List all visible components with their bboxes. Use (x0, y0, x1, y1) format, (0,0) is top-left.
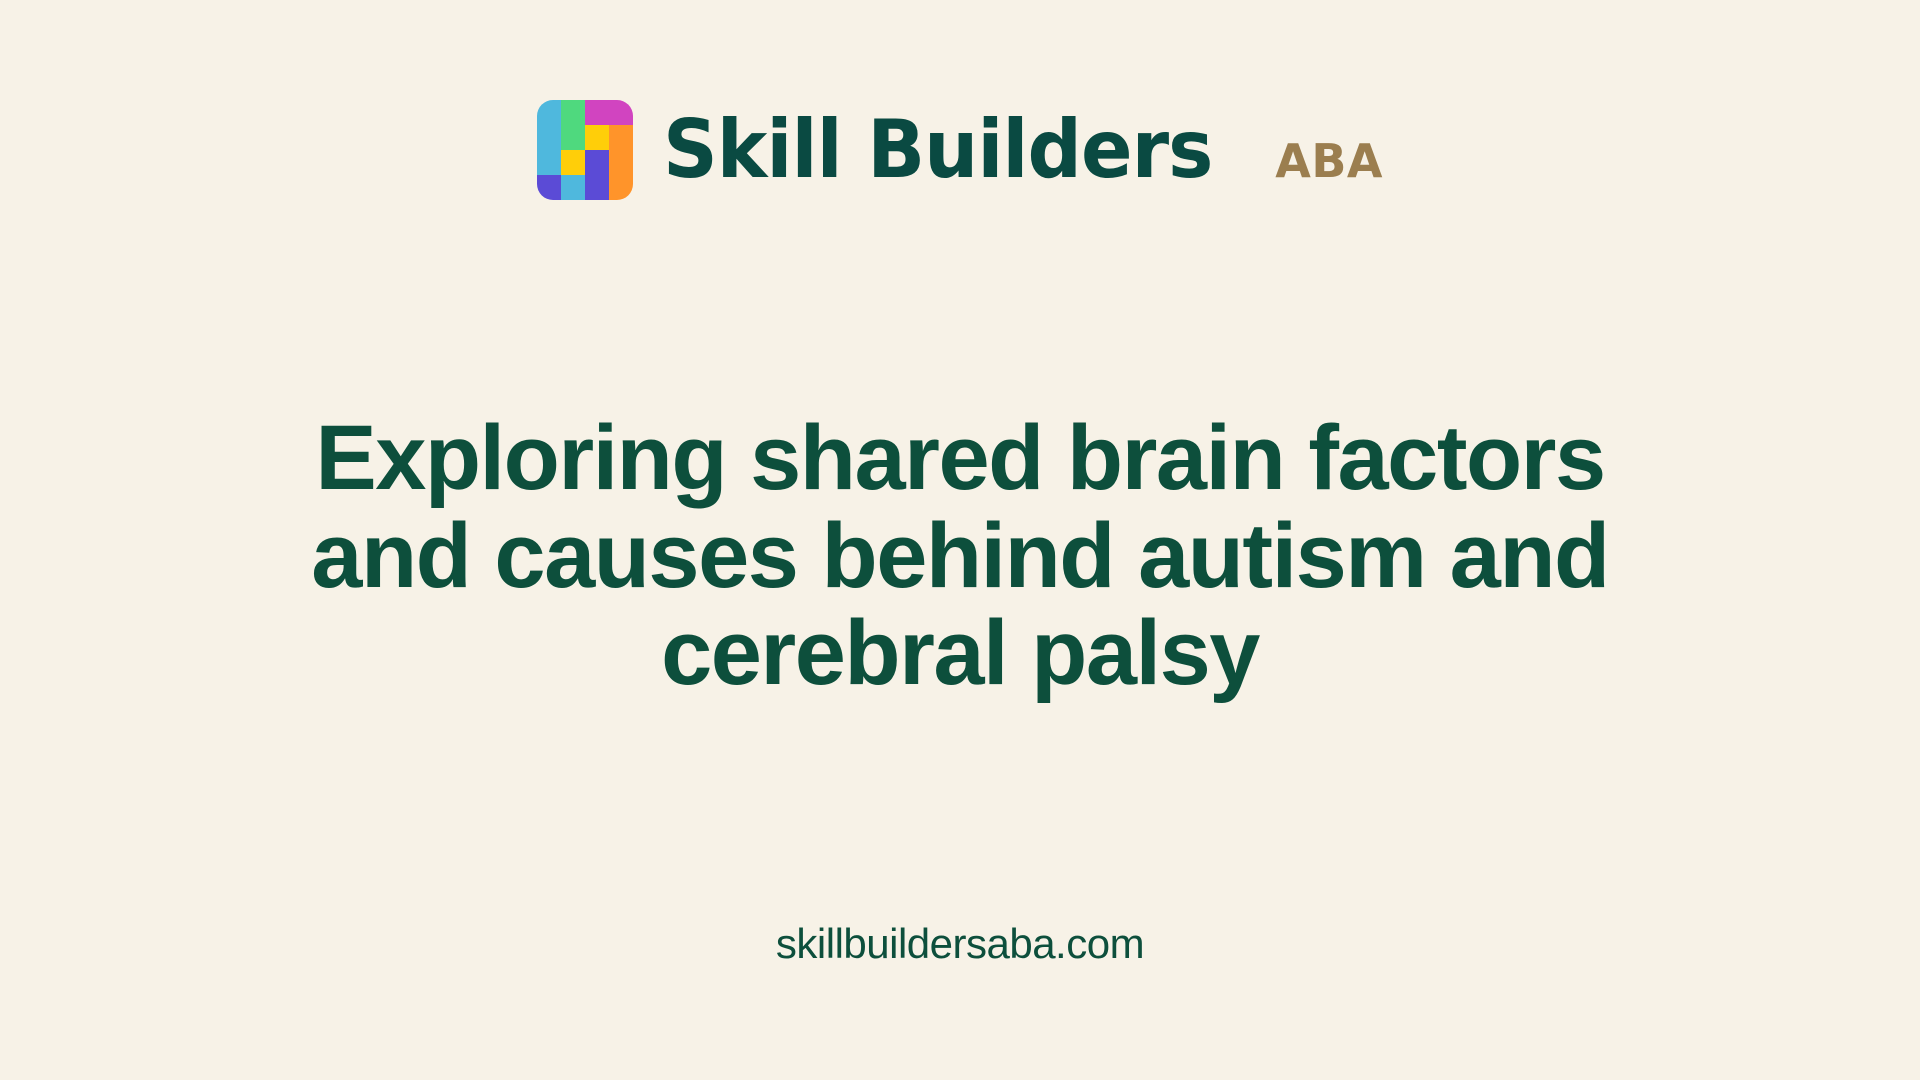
headline-line-1: Exploring shared brain factors (235, 410, 1685, 508)
logo-cell-11 (609, 150, 633, 175)
headline-line-3: cerebral palsy (235, 605, 1685, 703)
logo-cell-5 (561, 125, 585, 150)
logo-cell-10 (585, 150, 609, 175)
promo-slide: Skill Builders ABA Exploring shared brai… (0, 0, 1920, 1080)
brand-suffix: ABA (1275, 138, 1383, 184)
logo-cell-3 (609, 100, 633, 125)
logo-cell-4 (537, 125, 561, 150)
site-url[interactable]: skillbuildersaba.com (0, 920, 1920, 968)
logo-cell-1 (561, 100, 585, 125)
brand-name: Skill Builders (663, 110, 1212, 190)
brand-header: Skill Builders ABA (0, 100, 1920, 200)
skill-builders-grid-logo-icon (537, 100, 633, 200)
logo-cell-9 (561, 150, 585, 175)
logo-cell-14 (585, 175, 609, 200)
page-title: Exploring shared brain factors and cause… (235, 410, 1685, 703)
logo-cell-8 (537, 150, 561, 175)
logo-cell-7 (609, 125, 633, 150)
logo-cell-12 (537, 175, 561, 200)
headline-line-2: and causes behind autism and (235, 508, 1685, 606)
brand-wordmark-group: Skill Builders ABA (663, 110, 1383, 190)
logo-cell-0 (537, 100, 561, 125)
logo-cell-15 (609, 175, 633, 200)
logo-cell-6 (585, 125, 609, 150)
logo-cell-13 (561, 175, 585, 200)
logo-cell-2 (585, 100, 609, 125)
